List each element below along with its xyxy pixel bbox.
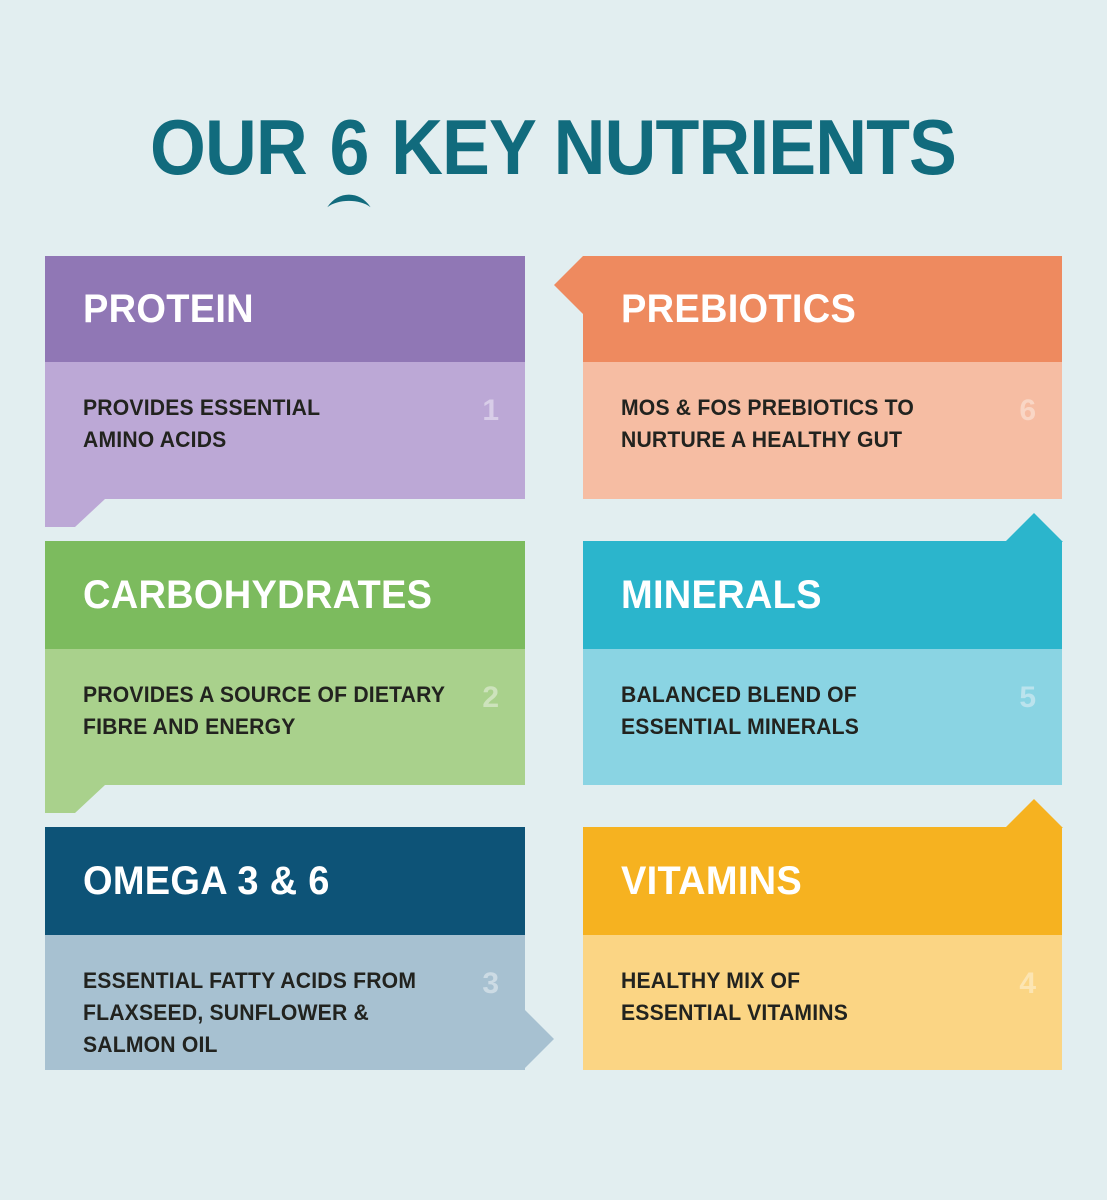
title-highlight-digit: 6 [330, 103, 369, 191]
card-number-badge: 1 [482, 396, 499, 426]
card-number-badge: 4 [1019, 969, 1036, 999]
card-heading: VITAMINS [621, 861, 802, 901]
card-description: ESSENTIAL FATTY ACIDS FROM FLAXSEED, SUN… [83, 965, 458, 1061]
card-header-carbohydrates: CARBOHYDRATES [45, 541, 525, 649]
card-heading: MINERALS [621, 575, 822, 615]
title-prefix: OUR [151, 103, 327, 191]
card-description: MOS & FOS PREBIOTICS TO NURTURE A HEALTH… [621, 392, 914, 456]
card-number-badge: 6 [1019, 396, 1036, 426]
card-body-vitamins: HEALTHY MIX OF ESSENTIAL VITAMINS 4 [583, 935, 1062, 1070]
card-heading: PREBIOTICS [621, 289, 856, 329]
card-body-prebiotics: MOS & FOS PREBIOTICS TO NURTURE A HEALTH… [583, 362, 1062, 499]
card-description: BALANCED BLEND OF ESSENTIAL MINERALS [621, 679, 859, 743]
card-body-protein: PROVIDES ESSENTIAL AMINO ACIDS 1 [45, 362, 525, 499]
card-description: HEALTHY MIX OF ESSENTIAL VITAMINS [621, 965, 848, 1029]
title-highlight-number: 6 [326, 108, 372, 186]
nutrient-card-prebiotics[interactable]: PREBIOTICS MOS & FOS PREBIOTICS TO NURTU… [583, 256, 1062, 499]
card-number-badge: 2 [482, 683, 499, 713]
card-heading: PROTEIN [83, 289, 254, 329]
card-body-minerals: BALANCED BLEND OF ESSENTIAL MINERALS 5 [583, 649, 1062, 785]
title-suffix: KEY NUTRIENTS [373, 103, 957, 191]
swoosh-underline-icon [326, 188, 372, 212]
card-header-prebiotics: PREBIOTICS [583, 256, 1062, 362]
minerals-up-arrow-icon [1005, 513, 1063, 542]
card-header-vitamins: VITAMINS [583, 827, 1062, 935]
card-description: PROVIDES ESSENTIAL AMINO ACIDS [83, 392, 320, 456]
nutrient-card-protein[interactable]: PROTEIN PROVIDES ESSENTIAL AMINO ACIDS 1 [45, 256, 525, 499]
nutrient-card-omega[interactable]: OMEGA 3 & 6 ESSENTIAL FATTY ACIDS FROM F… [45, 827, 525, 1070]
card-number-badge: 5 [1019, 683, 1036, 713]
card-header-minerals: MINERALS [583, 541, 1062, 649]
card-body-omega: ESSENTIAL FATTY ACIDS FROM FLAXSEED, SUN… [45, 935, 525, 1070]
prebiotics-left-arrow-icon [554, 256, 583, 314]
card-heading: CARBOHYDRATES [83, 575, 432, 615]
nutrient-card-vitamins[interactable]: VITAMINS HEALTHY MIX OF ESSENTIAL VITAMI… [583, 827, 1062, 1070]
card-header-protein: PROTEIN [45, 256, 525, 362]
infographic-root: OUR 6 KEY NUTRIENTS PROTEIN PROVIDES ESS… [0, 0, 1107, 1200]
protein-down-tab-icon [45, 499, 105, 527]
card-header-omega: OMEGA 3 & 6 [45, 827, 525, 935]
carbohydrates-down-tab-icon [45, 785, 105, 813]
page-title: OUR 6 KEY NUTRIENTS [0, 108, 1107, 186]
card-number-badge: 3 [482, 969, 499, 999]
vitamins-up-arrow-icon [1005, 799, 1063, 828]
card-heading: OMEGA 3 & 6 [83, 861, 330, 901]
omega-right-arrow-icon [525, 1010, 554, 1068]
card-description: PROVIDES A SOURCE OF DIETARY FIBRE AND E… [83, 679, 445, 743]
nutrient-card-carbohydrates[interactable]: CARBOHYDRATES PROVIDES A SOURCE OF DIETA… [45, 541, 525, 785]
card-body-carbohydrates: PROVIDES A SOURCE OF DIETARY FIBRE AND E… [45, 649, 525, 785]
nutrient-card-minerals[interactable]: MINERALS BALANCED BLEND OF ESSENTIAL MIN… [583, 541, 1062, 785]
title-text: OUR 6 KEY NUTRIENTS [151, 108, 957, 186]
